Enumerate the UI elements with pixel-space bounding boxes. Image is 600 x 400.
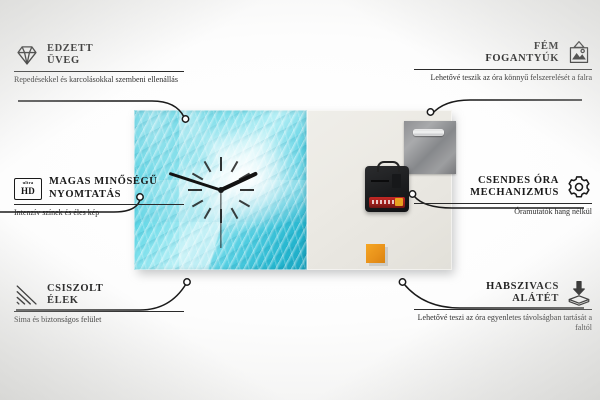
sanded-edges-icon xyxy=(14,282,40,308)
callout-description: Intenzív színek és éles kép xyxy=(14,208,184,218)
connector-endpoint-foam xyxy=(399,279,405,285)
callout-title-line2: NYOMTATÁS xyxy=(49,189,157,202)
callout-description: Óramutatók hang nélkül xyxy=(414,207,592,217)
callout-description: Lehetővé teszik az óra könnyű felszerelé… xyxy=(414,73,592,83)
picture-frame-hanger-icon xyxy=(566,40,592,66)
callout-divider xyxy=(414,69,592,70)
clock-second-hand xyxy=(220,190,221,248)
callout-divider xyxy=(414,309,592,310)
gear-icon xyxy=(566,174,592,200)
callout-title: CSISZOLT xyxy=(47,283,103,296)
metal-hanger-plate xyxy=(404,121,456,174)
diamond-icon xyxy=(14,42,40,68)
battery-plus-terminal xyxy=(395,198,403,206)
connector-line-handles xyxy=(432,100,582,114)
mechanism-seam-secondary xyxy=(392,174,401,188)
callout-title-line2: FOGANTYÚK xyxy=(485,53,559,66)
callout-divider xyxy=(14,71,184,72)
callout-title: FÉM xyxy=(485,41,559,54)
hanger-slot xyxy=(413,129,444,136)
clock-center-cap xyxy=(218,187,224,193)
callout-tempered-glass: EDZETT ÜVEG Repedésekkel és karcolásokka… xyxy=(14,42,184,85)
foam-pad-press-icon xyxy=(566,280,592,306)
callout-sanded-edges: CSISZOLT ÉLEK Sima és biztonságos felüle… xyxy=(14,282,184,325)
callout-title-line2: MECHANIZMUS xyxy=(470,187,559,200)
ultra-hd-icon: ultra HD xyxy=(14,178,42,200)
callout-foam-pad: HABSZIVACS ALÁTÉT Lehetővé teszi az óra … xyxy=(414,280,592,333)
callout-silent-mechanism: CSENDES ÓRA MECHANIZMUS Óramutatók hang … xyxy=(414,174,592,217)
infographic-canvas: EDZETT ÜVEG Repedésekkel és karcolásokka… xyxy=(0,0,600,400)
mechanism-loop xyxy=(377,161,400,172)
callout-title-line2: ALÁTÉT xyxy=(486,293,559,306)
callout-title: HABSZIVACS xyxy=(486,281,559,294)
callout-metal-handles: FÉM FOGANTYÚK Lehetővé teszik az óra kön… xyxy=(414,40,592,83)
callout-divider xyxy=(14,311,184,312)
clock-mechanism-box xyxy=(365,166,409,212)
callout-description: Repedésekkel és karcolásokkal szembeni e… xyxy=(14,75,184,85)
callout-title: EDZETT xyxy=(47,43,93,56)
callout-print-quality: ultra HD MAGAS MINŐSÉGŰ NYOMTATÁS Intenz… xyxy=(14,176,184,218)
foam-pad xyxy=(366,244,385,263)
callout-description: Sima és biztonságos felület xyxy=(14,315,184,325)
battery xyxy=(369,197,405,208)
callout-divider xyxy=(414,203,592,204)
callout-title: CSENDES ÓRA xyxy=(470,175,559,188)
callout-description: Lehetővé teszi az óra egyenletes távolsá… xyxy=(414,313,592,333)
mechanism-seam xyxy=(371,180,389,182)
connector-endpoint-edges xyxy=(184,279,190,285)
callout-divider xyxy=(14,204,184,205)
ultra-hd-icon-main-text: HD xyxy=(21,187,35,196)
callout-title-line2: ÉLEK xyxy=(47,295,103,308)
callout-title-line2: ÜVEG xyxy=(47,55,93,68)
battery-label xyxy=(372,200,396,204)
callout-title: MAGAS MINŐSÉGŰ xyxy=(49,176,157,189)
